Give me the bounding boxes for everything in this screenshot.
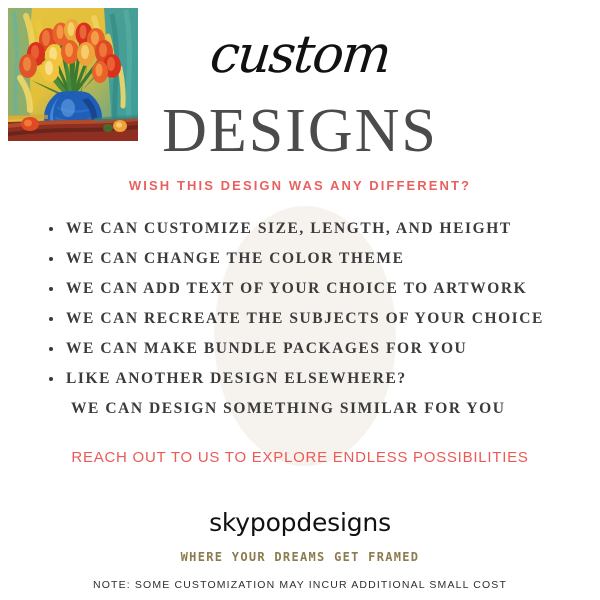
list-item: WE CAN CUSTOMIZE SIZE, LENGTH, AND HEIGH… <box>44 214 584 244</box>
call-to-action-text: REACH OUT TO US TO EXPLORE ENDLESS POSSI… <box>0 448 600 468</box>
list-item: WE CAN MAKE BUNDLE PACKAGES FOR YOU <box>44 334 584 364</box>
tulip-painting-image <box>8 8 138 141</box>
tulip-painting-thumbnail[interactable] <box>8 8 138 141</box>
brand-name: skypopdesigns <box>0 508 600 538</box>
list-item: LIKE ANOTHER DESIGN ELSEWHERE? <box>44 364 584 394</box>
feature-list: WE CAN CUSTOMIZE SIZE, LENGTH, AND HEIGH… <box>44 214 584 424</box>
list-item: WE CAN RECREATE THE SUBJECTS OF YOUR CHO… <box>44 304 584 334</box>
brand-tagline: WHERE YOUR DREAMS GET FRAMED <box>0 549 600 565</box>
subtitle-question: WISH THIS DESIGN WAS ANY DIFFERENT? <box>0 178 600 194</box>
list-item: WE CAN ADD TEXT OF YOUR CHOICE TO ARTWOR… <box>44 274 584 304</box>
list-item-continuation: WE CAN DESIGN SOMETHING SIMILAR FOR YOU <box>44 394 584 424</box>
promo-graphic-canvas: custom DESIGNS WISH THIS DESIGN WAS ANY … <box>0 0 600 600</box>
footnote-note: NOTE: SOME CUSTOMIZATION MAY INCUR ADDIT… <box>0 578 600 592</box>
list-item: WE CAN CHANGE THE COLOR THEME <box>44 244 584 274</box>
